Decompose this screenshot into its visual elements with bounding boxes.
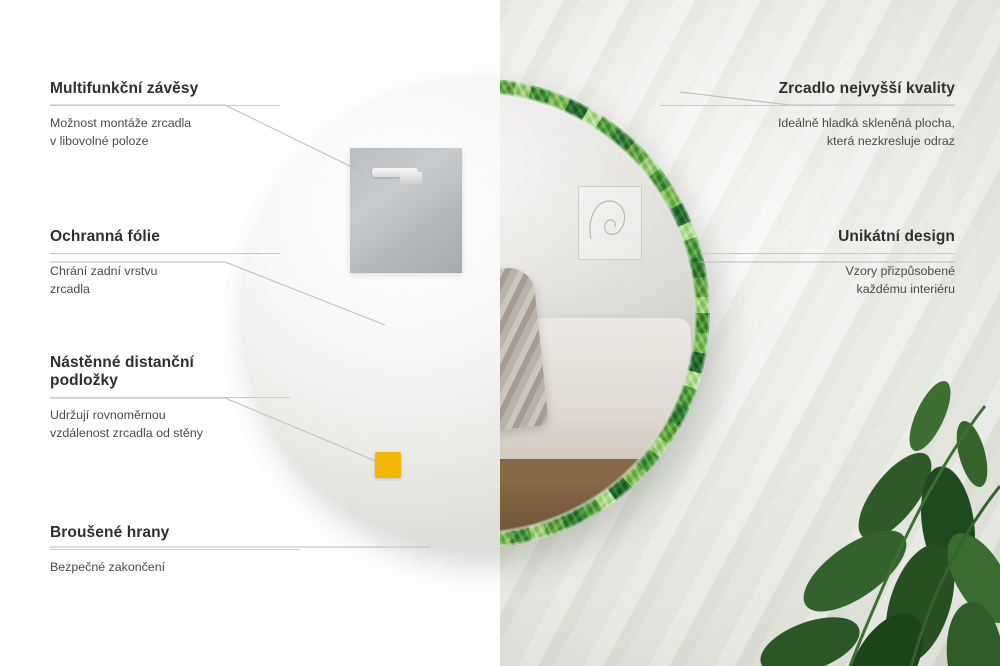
callout-unikatni-design: Unikátní design Vzory přizpůsobené každé… [700,228,955,299]
round-mirror [240,78,710,548]
callout-title: Multifunkční závěsy [50,80,280,98]
callout-title: Broušené hrany [50,524,300,542]
wall-spacer-pad [375,452,401,478]
callout-multifunkcni-zavesy: Multifunkční závěsy Možnost montáže zrca… [50,80,280,151]
callout-nastenne-distancni-podlozky: Nástěnné distanční podložky Udržují rovn… [50,354,290,443]
callout-title: Unikátní design [700,228,955,246]
callout-title: Nástěnné distanční podložky [50,354,290,390]
callout-zrcadlo-nejvyssi-kvality: Zrcadlo nejvyšší kvality Ideálně hladká … [660,80,955,151]
callout-desc: Ideálně hladká skleněná plocha, která ne… [660,115,955,151]
callout-rule [50,105,280,106]
callout-rule [700,253,955,254]
callout-desc: Chrání zadní vrstvu zrcadla [50,263,280,299]
callout-title: Ochranná fólie [50,228,280,246]
wall-art-sketch [578,186,642,260]
multifunction-hanger-clip [400,172,422,184]
callout-desc: Možnost montáže zrcadla v libovolné polo… [50,115,280,151]
protective-film-patch [350,148,462,273]
callout-desc: Udržují rovnoměrnou vzdálenost zrcadla o… [50,407,290,443]
product-infographic: Multifunkční závěsy Možnost montáže zrca… [0,0,1000,666]
callout-desc: Vzory přizpůsobené každému interiéru [700,263,955,299]
callout-rule [660,105,955,106]
callout-rule [50,397,290,398]
callout-desc: Bezpečné zakončení [50,559,300,577]
callout-brousene-hrany: Broušené hrany Bezpečné zakončení [50,524,300,577]
foreground-plant [680,346,1000,666]
callout-rule [50,253,280,254]
callout-title: Zrcadlo nejvyšší kvality [660,80,955,98]
callout-ochranna-folie: Ochranná fólie Chrání zadní vrstvu zrcad… [50,228,280,299]
callout-rule [50,549,300,550]
